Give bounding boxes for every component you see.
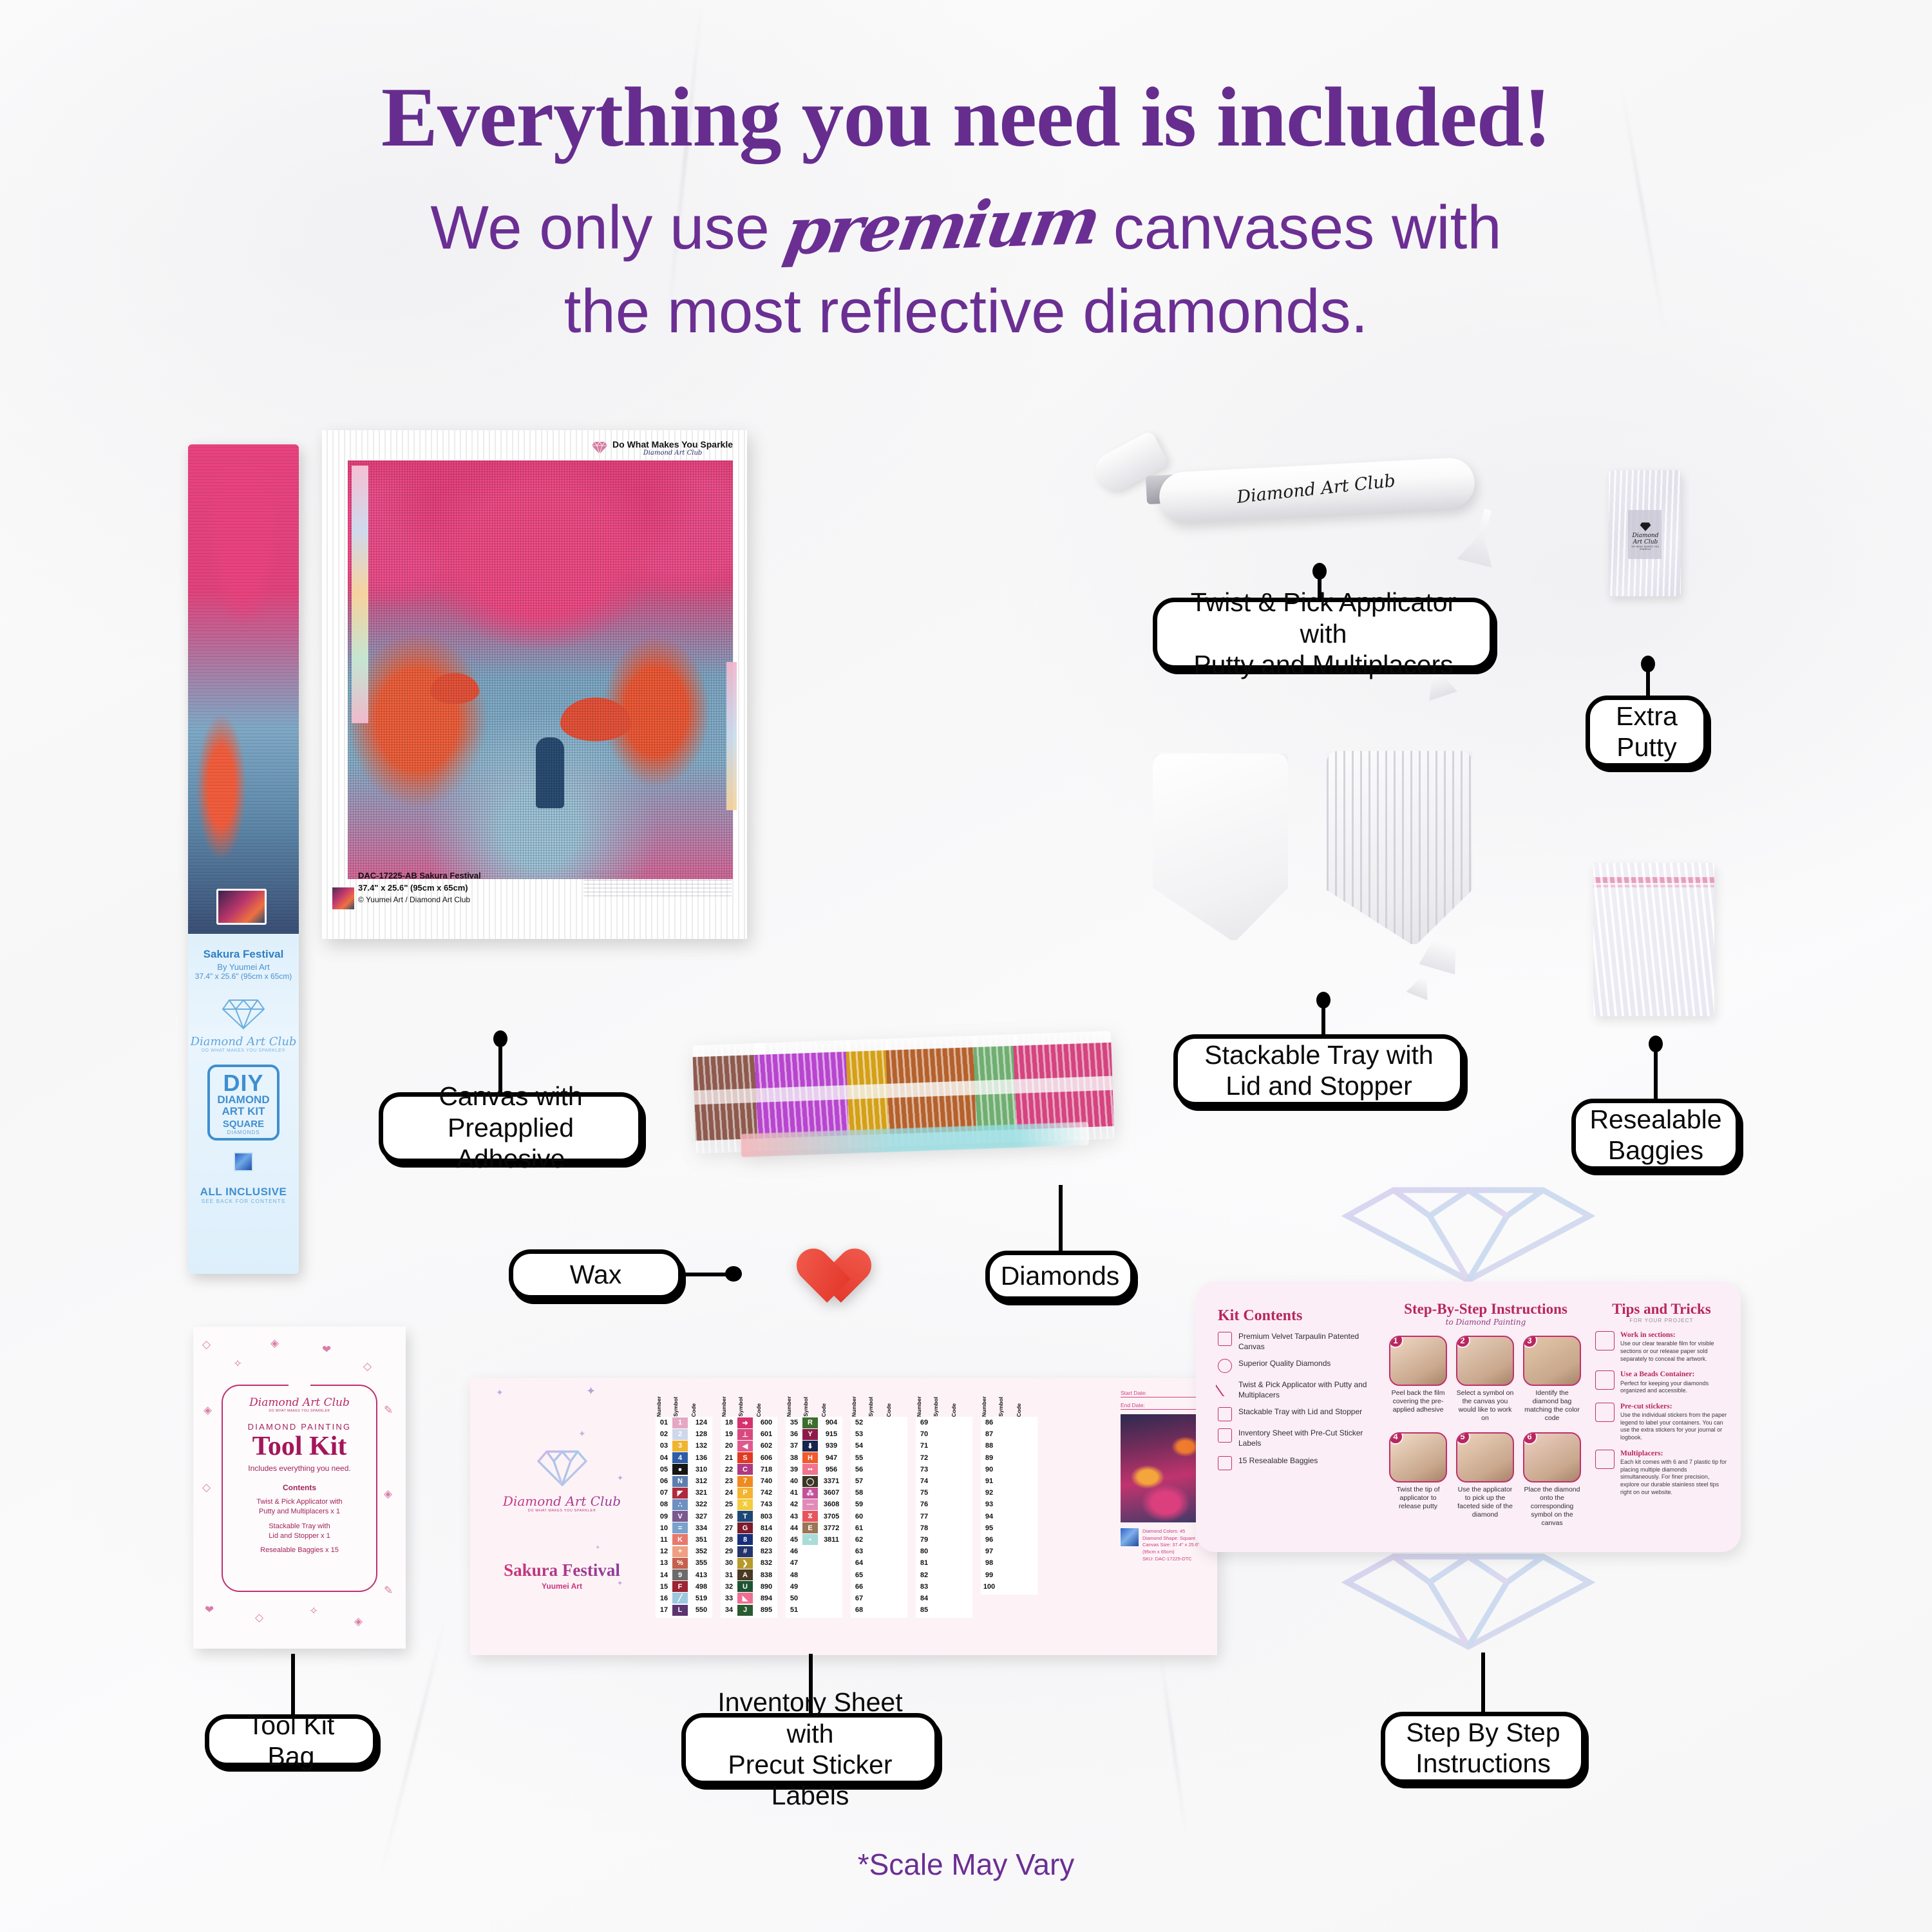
instruction-step: 4Twist the tip of applicator to release … <box>1389 1432 1447 1528</box>
tip-item: Use a Beads Container:Perfect for keepin… <box>1595 1370 1728 1395</box>
scale-footnote: *Scale May Vary <box>0 1847 1932 1882</box>
toolkit-subtitle: Includes everything you need. <box>223 1464 376 1473</box>
inventory-brand: Diamond Art Club <box>470 1493 654 1509</box>
all-inclusive-sublabel: SEE BACK FOR CONTENTS <box>188 1198 299 1204</box>
row-code: 128 <box>690 1430 712 1438</box>
row-number: 02 <box>656 1430 672 1438</box>
row-number: 100 <box>981 1583 998 1591</box>
row-symbol <box>998 1511 1013 1522</box>
row-number: 96 <box>981 1536 998 1544</box>
callout-tray[interactable]: Stackable Tray with Lid and Stopper <box>1173 1034 1464 1106</box>
callout-inventory[interactable]: Inventory Sheet with Precut Sticker Labe… <box>681 1713 939 1785</box>
inventory-title: Sakura Festival <box>470 1560 654 1580</box>
row-number: 07 <box>656 1489 672 1497</box>
row-code: 355 <box>690 1559 712 1567</box>
column-header: Number <box>786 1396 802 1417</box>
table-row: 11K351 <box>656 1534 712 1546</box>
row-symbol: ● <box>672 1464 688 1475</box>
row-number: 26 <box>721 1513 737 1520</box>
row-symbol <box>802 1605 818 1616</box>
row-symbol: E <box>802 1522 818 1533</box>
kit-contents-item: Twist & Pick Applicator with Putty and M… <box>1218 1380 1379 1400</box>
row-number: 48 <box>786 1571 802 1579</box>
table-row: 41⁂3607 <box>786 1487 842 1499</box>
row-symbol: ╱ <box>672 1593 688 1604</box>
kit-contents-item: 15 Resealable Baggies <box>1218 1456 1379 1470</box>
callout-dot <box>725 1266 742 1282</box>
row-number: 86 <box>981 1419 998 1426</box>
row-number: 73 <box>916 1466 933 1473</box>
row-number: 43 <box>786 1513 802 1520</box>
step-number: 6 <box>1523 1432 1537 1444</box>
row-number: 70 <box>916 1430 933 1438</box>
row-number: 04 <box>656 1454 672 1462</box>
row-number: 81 <box>916 1559 933 1567</box>
row-number: 75 <box>916 1489 933 1497</box>
callout-instructions[interactable]: Step By Step Instructions <box>1381 1712 1586 1784</box>
row-symbol <box>802 1558 818 1569</box>
row-number: 15 <box>656 1583 672 1591</box>
table-row: 64 <box>851 1557 907 1569</box>
row-code: 352 <box>690 1548 712 1555</box>
inventory-column: NumberSymbolCode697071727374757677787980… <box>916 1388 972 1618</box>
row-symbol: ◣ <box>737 1593 753 1604</box>
gem-swatch-icon <box>234 1152 253 1171</box>
row-number: 82 <box>916 1571 933 1579</box>
extra-putty-pack: Diamond Art Club DO WHAT MAKES YOU SPARK… <box>1609 470 1681 596</box>
row-number: 36 <box>786 1430 802 1438</box>
tip-body: Each kit comes with 6 and 7 plastic tip … <box>1620 1459 1728 1496</box>
column-header: Code <box>951 1403 972 1417</box>
diamond-icon <box>1639 522 1652 532</box>
resealable-baggie <box>1593 863 1714 1016</box>
row-number: 83 <box>916 1583 933 1591</box>
table-row: 52 <box>851 1417 907 1428</box>
row-number: 17 <box>656 1606 672 1614</box>
tip-title: Multiplacers: <box>1620 1450 1728 1458</box>
marble-vein <box>379 1614 447 1877</box>
row-number: 95 <box>981 1524 998 1532</box>
canvas-thumbnail <box>332 887 354 909</box>
step-caption: Peel back the film covering the pre-appl… <box>1389 1389 1447 1414</box>
tube-title: Sakura Festival <box>188 948 299 961</box>
row-number: 51 <box>786 1606 802 1614</box>
row-number: 67 <box>851 1595 867 1602</box>
table-row: 31A838 <box>721 1569 777 1580</box>
row-code: 743 <box>755 1501 777 1508</box>
row-number: 37 <box>786 1442 802 1450</box>
row-number: 32 <box>721 1583 737 1591</box>
table-row: 77 <box>916 1511 972 1522</box>
inventory-brand-tagline: DO WHAT MAKES YOU SPARKLE® <box>470 1509 654 1513</box>
row-symbol <box>998 1441 1013 1452</box>
row-code: 351 <box>690 1536 712 1544</box>
row-number: 49 <box>786 1583 802 1591</box>
row-symbol: ⁂ <box>802 1488 818 1499</box>
table-row: 49 <box>786 1581 842 1593</box>
column-header: Number <box>721 1396 737 1417</box>
tube-brand-tagline: DO WHAT MAKES YOU SPARKLE® <box>188 1048 299 1053</box>
row-number: 28 <box>721 1536 737 1544</box>
row-number: 01 <box>656 1419 672 1426</box>
callout-leader <box>1654 1043 1658 1106</box>
baggie-zip-seal <box>1593 877 1714 883</box>
table-row: 149413 <box>656 1569 712 1580</box>
artwork-figure <box>536 737 564 808</box>
table-row: 10=334 <box>656 1522 712 1534</box>
row-symbol <box>998 1452 1013 1463</box>
product-tube-package: Sakura Festival By Yuumei Art 37.4" x 25… <box>188 444 299 1274</box>
inventory-column: NumberSymbolCode18➜60019⊥60120◀60221S606… <box>721 1388 777 1618</box>
table-row: 100 <box>981 1581 1037 1593</box>
row-number: 98 <box>981 1559 998 1567</box>
kit-contents-item: Superior Quality Diamonds <box>1218 1359 1379 1373</box>
step-caption: Twist the tip of applicator to release p… <box>1389 1486 1447 1511</box>
row-code: 600 <box>755 1419 777 1426</box>
row-symbol: U <box>737 1581 753 1592</box>
tips-section: Tips and Tricks FOR YOUR PROJECT Work in… <box>1595 1301 1728 1497</box>
row-code: 895 <box>755 1606 777 1614</box>
table-row: 80 <box>916 1546 972 1557</box>
table-row: 17L550 <box>656 1604 712 1616</box>
callout-toolkit[interactable]: Tool Kit Bag <box>205 1714 377 1767</box>
step-number: 5 <box>1456 1432 1470 1444</box>
row-number: 90 <box>981 1466 998 1473</box>
canvas-brand: Diamond Art Club <box>612 450 733 457</box>
table-row: 73 <box>916 1464 972 1475</box>
table-row: 36Y915 <box>786 1428 842 1440</box>
column-header: Symbol <box>998 1397 1016 1417</box>
tip-title: Pre-cut stickers: <box>1620 1403 1728 1411</box>
table-row: 51 <box>786 1604 842 1616</box>
table-row: 033132 <box>656 1440 712 1452</box>
tip-icon <box>1595 1403 1615 1422</box>
inventory-column: NumberSymbolCode011124022128033132044136… <box>656 1388 712 1618</box>
row-number: 88 <box>981 1442 998 1450</box>
table-row: 84 <box>916 1593 972 1604</box>
row-symbol <box>998 1558 1013 1569</box>
row-code: 3772 <box>820 1524 842 1532</box>
row-number: 80 <box>916 1548 933 1555</box>
row-number: 78 <box>916 1524 933 1532</box>
tip-icon <box>1595 1331 1615 1350</box>
row-symbol <box>867 1452 883 1463</box>
instruction-step: 5Use the applicator to pick up the facet… <box>1456 1432 1514 1528</box>
diamond-label: DIAMOND <box>210 1094 277 1106</box>
putty-brand-logo: Diamond Art Club DO WHAT MAKES YOU SPARK… <box>1631 522 1660 551</box>
callout-wax[interactable]: Wax <box>509 1249 683 1300</box>
column-header: Number <box>656 1396 672 1417</box>
row-symbol <box>998 1534 1013 1545</box>
table-row: 58 <box>851 1487 907 1499</box>
row-code: 606 <box>755 1454 777 1462</box>
inventory-column: NumberSymbolCode868788899091929394959697… <box>981 1388 1037 1618</box>
art-kit-label: ART KIT <box>210 1106 277 1117</box>
row-symbol: ∴ <box>672 1499 688 1510</box>
row-symbol: A <box>737 1569 753 1580</box>
table-row: 35R904 <box>786 1417 842 1428</box>
row-code: 832 <box>755 1559 777 1567</box>
tube-label: Sakura Festival By Yuumei Art 37.4" x 25… <box>188 934 299 1274</box>
step-number: 3 <box>1523 1336 1537 1348</box>
step-photo: 2 <box>1456 1336 1514 1386</box>
subtitle-part-b: canvases with <box>1096 193 1502 262</box>
toolkit-content-item: Twist & Pick Applicator withPutty and Mu… <box>223 1497 376 1517</box>
table-row: 288820 <box>721 1534 777 1546</box>
row-symbol <box>867 1476 883 1487</box>
row-symbol <box>998 1581 1013 1592</box>
row-number: 85 <box>916 1606 933 1614</box>
row-code: 413 <box>690 1571 712 1579</box>
row-symbol: = <box>672 1522 688 1533</box>
table-row: 74 <box>916 1475 972 1487</box>
putty-brand: Diamond Art Club <box>1631 533 1660 545</box>
row-number: 35 <box>786 1419 802 1426</box>
tips-subheader: FOR YOUR PROJECT <box>1595 1318 1728 1323</box>
callout-applicator[interactable]: Twist & Pick Applicator with Putty and M… <box>1153 598 1494 670</box>
callout-canvas[interactable]: Canvas with Preapplied Adhesive <box>379 1092 643 1163</box>
table-row: 44E3772 <box>786 1522 842 1534</box>
row-code: 3608 <box>820 1501 842 1508</box>
canvas-sku-title: DAC-17225-AB Sakura Festival <box>358 870 481 882</box>
tube-brand: Diamond Art Club <box>188 1035 299 1048</box>
table-row: 237740 <box>721 1475 777 1487</box>
table-row: 59 <box>851 1499 907 1510</box>
diamond-icon <box>1340 1185 1597 1285</box>
toolkit-title: Tool Kit <box>223 1433 376 1460</box>
steps-section: Step-By-Step Instructions to Diamond Pai… <box>1389 1301 1582 1528</box>
inventory-column: NumberSymbolCode35R90436Y91537⬇93938H947… <box>786 1388 842 1618</box>
table-row: 65 <box>851 1569 907 1580</box>
table-row: 93 <box>981 1499 1037 1510</box>
row-number: 93 <box>981 1501 998 1508</box>
row-number: 09 <box>656 1513 672 1520</box>
table-row: 42—3608 <box>786 1499 842 1510</box>
toolkit-contents-header: Contents <box>223 1483 376 1492</box>
table-row: 55 <box>851 1452 907 1464</box>
row-symbol <box>933 1581 948 1592</box>
callout-diamonds[interactable]: Diamonds <box>985 1251 1135 1301</box>
tip-item: Pre-cut stickers:Use the individual stic… <box>1595 1403 1728 1442</box>
table-row: 09V327 <box>656 1511 712 1522</box>
row-symbol <box>802 1593 818 1604</box>
tip-icon <box>1595 1370 1615 1390</box>
row-number: 19 <box>721 1430 737 1438</box>
row-code: 814 <box>755 1524 777 1532</box>
row-number: 89 <box>981 1454 998 1462</box>
row-number: 29 <box>721 1548 737 1555</box>
diamonds-icon <box>1218 1359 1232 1373</box>
row-number: 79 <box>916 1536 933 1544</box>
row-code: 915 <box>820 1430 842 1438</box>
row-symbol: N <box>672 1476 688 1487</box>
row-number: 12 <box>656 1548 672 1555</box>
table-row: 13%355 <box>656 1557 712 1569</box>
table-row: 63 <box>851 1546 907 1557</box>
all-inclusive-label: ALL INCLUSIVE <box>188 1186 299 1198</box>
table-row: 27G814 <box>721 1522 777 1534</box>
row-code: 601 <box>755 1430 777 1438</box>
row-symbol <box>867 1417 883 1428</box>
row-code: 550 <box>690 1606 712 1614</box>
row-symbol <box>998 1499 1013 1510</box>
row-symbol: 9 <box>672 1569 688 1580</box>
column-header: Number <box>851 1396 867 1417</box>
table-row: 07◤321 <box>656 1487 712 1499</box>
row-number: 11 <box>656 1536 672 1544</box>
row-number: 99 <box>981 1571 998 1579</box>
table-row: 72 <box>916 1452 972 1464</box>
row-symbol <box>933 1534 948 1545</box>
row-code: 823 <box>755 1548 777 1555</box>
step-photo: 4 <box>1389 1432 1447 1482</box>
column-header: Symbol <box>672 1397 690 1417</box>
canvas-fineprint-block <box>583 871 732 896</box>
toolkit-content-item: Stackable Tray withLid and Stopper x 1 <box>223 1522 376 1541</box>
table-row: 88 <box>981 1440 1037 1452</box>
row-code: 820 <box>755 1536 777 1544</box>
table-row: 19⊥601 <box>721 1428 777 1440</box>
inventory-color-table: NumberSymbolCode011124022128033132044136… <box>656 1388 1037 1618</box>
row-symbol: C <box>737 1464 753 1475</box>
table-row: 96 <box>981 1534 1037 1546</box>
tool-kit-bag: ◇✧ ◈❤ ◇✎ ◈◇ ◈❤ ◇✧ ◈✎ Diamond Art Club DO… <box>193 1327 406 1649</box>
table-row: 67 <box>851 1593 907 1604</box>
canvas-color-legend <box>352 466 368 723</box>
table-row: 25X743 <box>721 1499 777 1510</box>
table-row: 33◣894 <box>721 1593 777 1604</box>
row-symbol <box>933 1605 948 1616</box>
column-header: Code <box>820 1403 842 1417</box>
table-row: 022128 <box>656 1428 712 1440</box>
row-number: 94 <box>981 1513 998 1520</box>
row-symbol <box>998 1522 1013 1533</box>
row-number: 44 <box>786 1524 802 1532</box>
row-code: 602 <box>755 1442 777 1450</box>
row-number: 50 <box>786 1595 802 1602</box>
column-header: Number <box>916 1396 933 1417</box>
row-number: 30 <box>721 1559 737 1567</box>
row-symbol <box>933 1499 948 1510</box>
multiplacer-icon <box>1406 972 1435 1000</box>
table-row: 79 <box>916 1534 972 1546</box>
callout-extra-putty[interactable]: Extra Putty <box>1586 696 1708 768</box>
callout-baggies[interactable]: Resealable Baggies <box>1571 1099 1740 1171</box>
row-symbol: 1 <box>672 1417 688 1428</box>
row-symbol <box>998 1546 1013 1557</box>
table-row: 37⬇939 <box>786 1440 842 1452</box>
table-row: 21S606 <box>721 1452 777 1464</box>
diamond-icon <box>1340 1551 1597 1651</box>
tip-item: Work in sections:Use our clear tearable … <box>1595 1331 1728 1363</box>
tray-icon <box>1218 1407 1232 1421</box>
tool-kit-card: Diamond Art Club DO WHAT MAKES YOU SPARK… <box>222 1385 377 1592</box>
steps-header: Step-By-Step Instructions <box>1389 1301 1582 1318</box>
subtitle-line-1: We only use premium canvases with <box>0 190 1932 263</box>
table-row: 69 <box>916 1417 972 1428</box>
table-row: 99 <box>981 1569 1037 1580</box>
row-symbol: P <box>737 1488 753 1499</box>
step-caption: Identify the diamond bag matching the co… <box>1523 1389 1581 1423</box>
row-symbol <box>867 1558 883 1569</box>
subtitle-part-a: We only use <box>430 193 786 262</box>
column-header: Symbol <box>737 1397 755 1417</box>
row-number: 42 <box>786 1501 802 1508</box>
row-number: 03 <box>656 1442 672 1450</box>
table-row: 48 <box>786 1569 842 1580</box>
step-number: 1 <box>1389 1336 1403 1348</box>
row-symbol: ⧖ <box>802 1511 818 1522</box>
row-symbol: ◤ <box>672 1488 688 1499</box>
row-number: 13 <box>656 1559 672 1567</box>
row-number: 65 <box>851 1571 867 1579</box>
row-symbol: + <box>672 1546 688 1557</box>
table-row: 32U890 <box>721 1581 777 1593</box>
table-row: 29#823 <box>721 1546 777 1557</box>
subtitle-line-2: the most reflective diamonds. <box>0 277 1932 346</box>
kit-contents-item: Stackable Tray with Lid and Stopper <box>1218 1407 1379 1421</box>
row-symbol: R <box>802 1417 818 1428</box>
row-symbol: •• <box>802 1464 818 1475</box>
row-symbol: 8 <box>737 1534 753 1545</box>
column-header: Symbol <box>867 1397 885 1417</box>
row-number: 47 <box>786 1559 802 1567</box>
table-row: 68 <box>851 1604 907 1616</box>
row-symbol: L <box>672 1605 688 1616</box>
row-number: 56 <box>851 1466 867 1473</box>
row-symbol <box>933 1488 948 1499</box>
table-row: 94 <box>981 1511 1037 1522</box>
row-symbol <box>933 1546 948 1557</box>
callout-leader <box>1481 1653 1485 1714</box>
table-row: 70 <box>916 1428 972 1440</box>
row-symbol <box>933 1593 948 1604</box>
row-symbol: ➜ <box>737 1417 753 1428</box>
step-number: 2 <box>1456 1336 1470 1348</box>
row-number: 59 <box>851 1501 867 1508</box>
row-number: 39 <box>786 1466 802 1473</box>
table-row: 91 <box>981 1475 1037 1487</box>
row-symbol <box>998 1417 1013 1428</box>
instructions-card: Kit Contents Premium Velvet Tarpaulin Pa… <box>1196 1282 1741 1552</box>
steps-subheader: to Diamond Painting <box>1389 1318 1582 1327</box>
tip-body: Use the individual stickers from the pap… <box>1620 1412 1728 1442</box>
canvas-size: 37.4" x 25.6" (95cm x 65cm) <box>358 882 481 895</box>
table-row: 81 <box>916 1557 972 1569</box>
row-number: 38 <box>786 1454 802 1462</box>
row-symbol: ◯ <box>802 1476 818 1487</box>
row-symbol <box>867 1546 883 1557</box>
row-number: 20 <box>721 1442 737 1450</box>
canvas-icon <box>1218 1332 1232 1346</box>
callout-leader <box>684 1273 730 1276</box>
instruction-step: 1Peel back the film covering the pre-app… <box>1389 1336 1447 1423</box>
step-photo: 1 <box>1389 1336 1447 1386</box>
row-number: 22 <box>721 1466 737 1473</box>
table-row: 40◯3371 <box>786 1475 842 1487</box>
row-number: 40 <box>786 1477 802 1485</box>
row-symbol: Y <box>802 1429 818 1440</box>
kit-contents-item: Premium Velvet Tarpaulin Patented Canvas <box>1218 1332 1379 1352</box>
row-code: 838 <box>755 1571 777 1579</box>
row-number: 54 <box>851 1442 867 1450</box>
table-row: 011124 <box>656 1417 712 1428</box>
toolkit-eyebrow: DIAMOND PAINTING <box>223 1422 376 1432</box>
row-number: 92 <box>981 1489 998 1497</box>
row-code: 322 <box>690 1501 712 1508</box>
row-number: 57 <box>851 1477 867 1485</box>
row-symbol <box>867 1581 883 1592</box>
